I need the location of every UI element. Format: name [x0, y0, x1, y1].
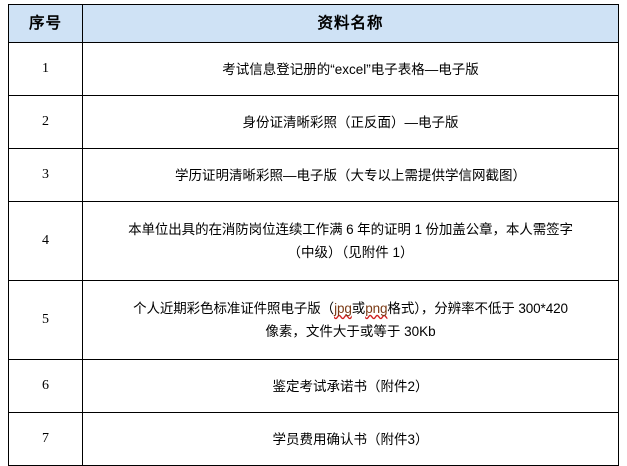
row-index-cell: 2	[9, 96, 83, 149]
row-index-cell: 5	[9, 281, 83, 360]
requirements-table-container: 序号 资料名称 1考试信息登记册的“excel”电子表格—电子版2身份证清晰彩照…	[8, 4, 618, 466]
row-name-line: （中级）（见附件 1）	[87, 241, 614, 264]
row-name-line: 学员费用确认书（附件3）	[87, 428, 614, 451]
row-name-line: 像素，文件大于或等于 30Kb	[87, 320, 614, 343]
table-row: 4本单位出具的在消防岗位连续工作满 6 年的证明 1 份加盖公章，本人需签字（中…	[9, 202, 619, 281]
table-row: 6鉴定考试承诺书（附件2）	[9, 360, 619, 413]
row-index-cell: 6	[9, 360, 83, 413]
row-name-cell: 本单位出具的在消防岗位连续工作满 6 年的证明 1 份加盖公章，本人需签字（中级…	[83, 202, 619, 281]
table-header: 序号 资料名称	[9, 5, 619, 43]
row-name-line: 考试信息登记册的“excel”电子表格—电子版	[87, 58, 614, 81]
row-name-cell: 学员费用确认书（附件3）	[83, 413, 619, 466]
requirements-table: 序号 资料名称 1考试信息登记册的“excel”电子表格—电子版2身份证清晰彩照…	[8, 4, 619, 466]
text-token: 像素，文件大于或等于 30Kb	[265, 324, 435, 339]
row-name-line: 学历证明清晰彩照—电子版（大专以上需提供学信网截图）	[87, 164, 614, 187]
text-token: 或	[352, 301, 365, 316]
row-index-cell: 3	[9, 149, 83, 202]
row-index-cell: 7	[9, 413, 83, 466]
misspelled-token: jpg	[334, 301, 352, 316]
text-token: 个人近期彩色标准证件照电子版（	[133, 301, 334, 316]
row-name-line: 个人近期彩色标准证件照电子版（jpg或png格式），分辨率不低于 300*420	[87, 297, 614, 320]
column-header-index: 序号	[9, 5, 83, 43]
row-name-cell: 鉴定考试承诺书（附件2）	[83, 360, 619, 413]
table-row: 1考试信息登记册的“excel”电子表格—电子版	[9, 43, 619, 96]
row-name-cell: 个人近期彩色标准证件照电子版（jpg或png格式），分辨率不低于 300*420…	[83, 281, 619, 360]
row-name-cell: 身份证清晰彩照（正反面）—电子版	[83, 96, 619, 149]
table-row: 3学历证明清晰彩照—电子版（大专以上需提供学信网截图）	[9, 149, 619, 202]
table-body: 1考试信息登记册的“excel”电子表格—电子版2身份证清晰彩照（正反面）—电子…	[9, 43, 619, 466]
text-token: 格式），分辨率不低于 300*420	[387, 301, 568, 316]
column-header-name: 资料名称	[83, 5, 619, 43]
table-row: 2身份证清晰彩照（正反面）—电子版	[9, 96, 619, 149]
misspelled-token: png	[365, 301, 387, 316]
table-header-row: 序号 资料名称	[9, 5, 619, 43]
row-name-line: 身份证清晰彩照（正反面）—电子版	[87, 111, 614, 134]
table-row: 7学员费用确认书（附件3）	[9, 413, 619, 466]
row-name-line: 本单位出具的在消防岗位连续工作满 6 年的证明 1 份加盖公章，本人需签字	[87, 218, 614, 241]
row-name-cell: 考试信息登记册的“excel”电子表格—电子版	[83, 43, 619, 96]
row-index-cell: 1	[9, 43, 83, 96]
row-index-cell: 4	[9, 202, 83, 281]
row-name-cell: 学历证明清晰彩照—电子版（大专以上需提供学信网截图）	[83, 149, 619, 202]
row-name-line: 鉴定考试承诺书（附件2）	[87, 375, 614, 398]
table-row: 5个人近期彩色标准证件照电子版（jpg或png格式），分辨率不低于 300*42…	[9, 281, 619, 360]
